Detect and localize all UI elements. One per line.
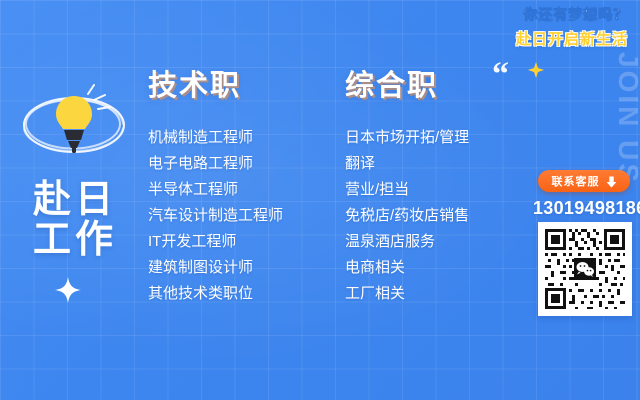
qr-code[interactable] [538,222,632,316]
sparkle-icon [55,277,81,303]
list-item: 半导体工程师 [148,178,283,202]
job-list-technical: 机械制造工程师 电子电路工程师 半导体工程师 汽车设计制造工程师 IT开发工程师… [148,126,283,306]
list-item: 汽车设计制造工程师 [148,204,283,228]
brand-title-line2: 工作 [0,220,150,260]
column-heading-technical: 技术职 [148,62,283,104]
wechat-icon [574,258,596,280]
list-item: IT开发工程师 [148,230,283,254]
list-item: 其他技术类职位 [148,282,283,306]
slogan-block: 你还有梦想吗？ 赴日开启新生活 [516,4,628,49]
contact-support-label: 联系客服 [552,173,600,189]
list-item: 机械制造工程师 [148,126,283,150]
slogan-line-2: 赴日开启新生活 [516,28,628,49]
list-item: 温泉酒店服务 [345,230,469,254]
quotation-mark-icon: “ [492,58,509,92]
contact-phone-number[interactable]: 13019498186 [533,198,637,219]
list-item: 翻译 [345,152,469,176]
brand-block: 赴日 工作 [0,78,150,260]
column-heading-general: 综合职 [345,62,469,104]
lightbulb-icon [10,78,140,170]
star-icon [528,62,544,78]
slogan-line-1: 你还有梦想吗？ [516,4,628,24]
brand-title: 赴日 工作 [0,180,150,260]
column-technical: 技术职 机械制造工程师 电子电路工程师 半导体工程师 汽车设计制造工程师 IT开… [148,62,283,308]
list-item: 营业/担当 [345,178,469,202]
column-general: 综合职 日本市场开拓/管理 翻译 营业/担当 免税店/药妆店销售 温泉酒店服务 … [345,62,469,308]
list-item: 工厂相关 [345,282,469,306]
list-item: 电商相关 [345,256,469,280]
list-item: 免税店/药妆店销售 [345,204,469,228]
job-list-general: 日本市场开拓/管理 翻译 营业/担当 免税店/药妆店销售 温泉酒店服务 电商相关… [345,126,469,306]
list-item: 电子电路工程师 [148,152,283,176]
contact-support-button[interactable]: 联系客服 [538,170,630,192]
brand-title-line1: 赴日 [0,180,150,220]
poster-canvas: 赴日 工作 技术职 机械制造工程师 电子电路工程师 半导体工程师 汽车设计制造工… [0,0,640,400]
join-us-watermark: JOIN US [612,52,640,185]
arrow-down-icon [606,175,617,187]
list-item: 建筑制图设计师 [148,256,283,280]
list-item: 日本市场开拓/管理 [345,126,469,150]
